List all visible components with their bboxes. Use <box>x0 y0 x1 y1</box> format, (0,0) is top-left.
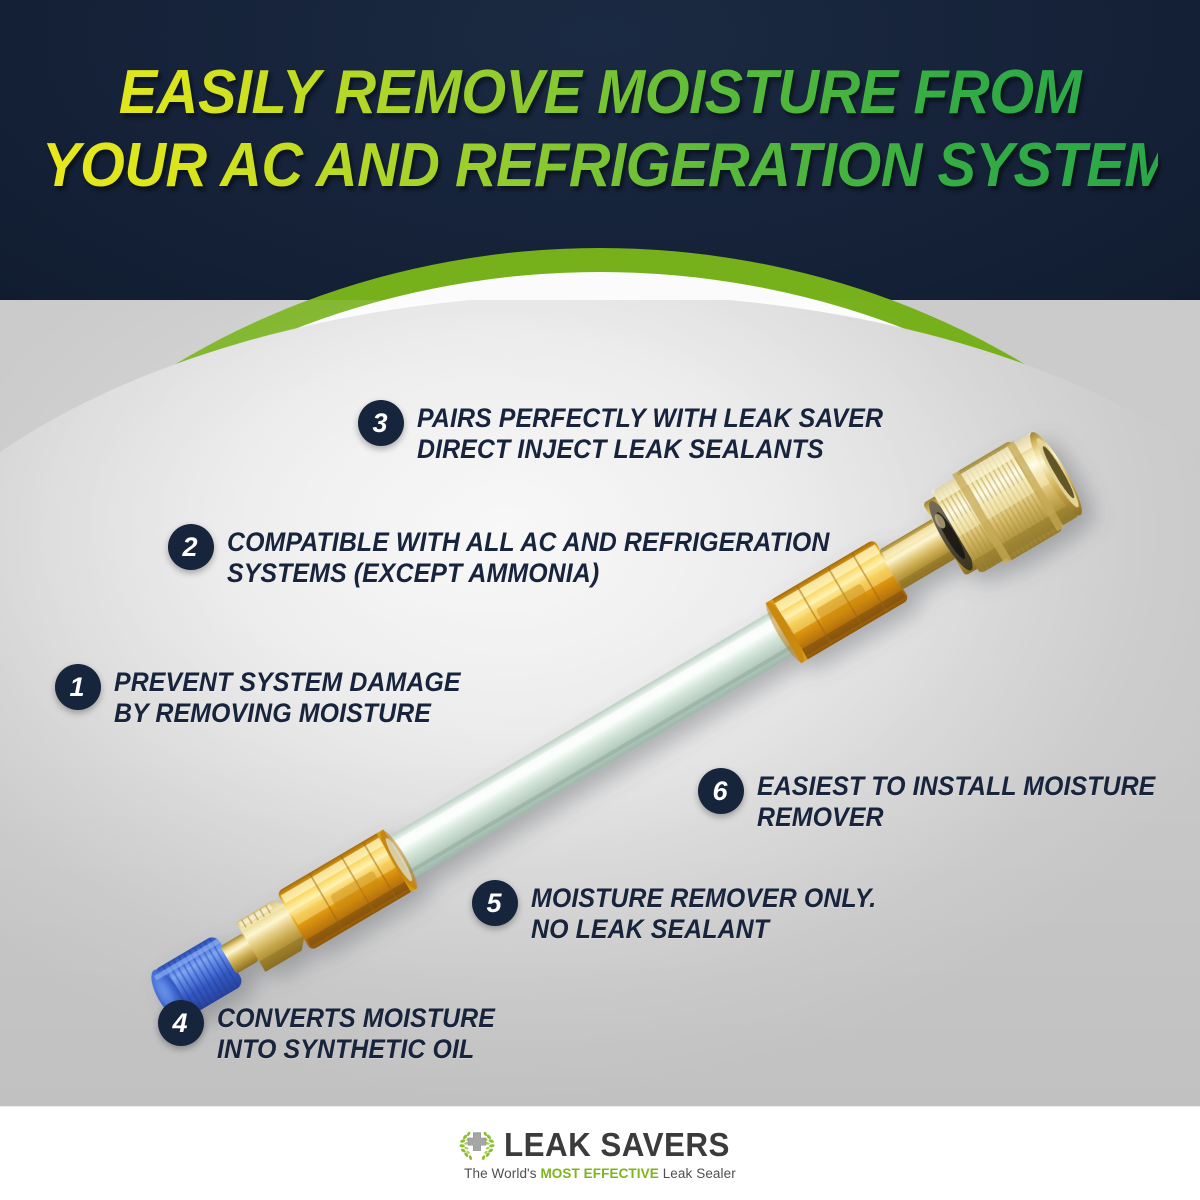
tagline-before: The World's <box>464 1166 540 1181</box>
tagline-after: Leak Sealer <box>659 1166 736 1181</box>
feature-item-4: 4 CONVERTS MOISTURE INTO SYNTHETIC OIL <box>158 1000 513 1066</box>
footer-bar: LEAK SAVERS The World's MOST EFFECTIVE L… <box>0 1106 1200 1200</box>
badge-number-4: 4 <box>158 1000 204 1046</box>
brand-tagline: The World's MOST EFFECTIVE Leak Sealer <box>464 1166 736 1181</box>
feature-item-3: 3 PAIRS PERFECTLY WITH LEAK SAVER DIRECT… <box>358 400 913 466</box>
title-line-1: EASILY REMOVE MOISTURE FROM <box>42 56 1158 129</box>
page-title: EASILY REMOVE MOISTURE FROM YOUR AC AND … <box>0 56 1200 202</box>
brand-name: LEAK SAVERS <box>504 1128 730 1161</box>
badge-number-3: 3 <box>358 400 404 446</box>
tagline-highlight: MOST EFFECTIVE <box>540 1166 658 1181</box>
feature-item-1: 1 PREVENT SYSTEM DAMAGE BY REMOVING MOIS… <box>55 664 483 730</box>
feature-text-1: PREVENT SYSTEM DAMAGE BY REMOVING MOISTU… <box>114 664 461 730</box>
feature-item-2: 2 COMPATIBLE WITH ALL AC AND REFRIGERATI… <box>168 524 868 590</box>
feature-text-6: EASIEST TO INSTALL MOISTURE REMOVER <box>757 768 1155 834</box>
badge-number-6: 6 <box>698 768 744 814</box>
feature-text-3: PAIRS PERFECTLY WITH LEAK SAVER DIRECT I… <box>417 400 883 466</box>
brand-logo: LEAK SAVERS The World's MOST EFFECTIVE L… <box>458 1125 742 1181</box>
infographic-canvas: EASILY REMOVE MOISTURE FROM YOUR AC AND … <box>0 0 1200 1200</box>
feature-text-2: COMPATIBLE WITH ALL AC AND REFRIGERATION… <box>227 524 829 590</box>
badge-number-1: 1 <box>55 664 101 710</box>
title-line-2: YOUR AC AND REFRIGERATION SYSTEM <box>42 129 1158 202</box>
feature-text-4: CONVERTS MOISTURE INTO SYNTHETIC OIL <box>217 1000 495 1066</box>
footer-divider <box>0 1106 1200 1107</box>
badge-number-2: 2 <box>168 524 214 570</box>
laurel-wreath-cross-icon <box>458 1125 496 1163</box>
badge-number-5: 5 <box>472 880 518 926</box>
feature-text-5: MOISTURE REMOVER ONLY. NO LEAK SEALANT <box>531 880 876 946</box>
feature-item-6: 6 EASIEST TO INSTALL MOISTURE REMOVER <box>698 768 1181 834</box>
feature-item-5: 5 MOISTURE REMOVER ONLY. NO LEAK SEALANT <box>472 880 898 946</box>
